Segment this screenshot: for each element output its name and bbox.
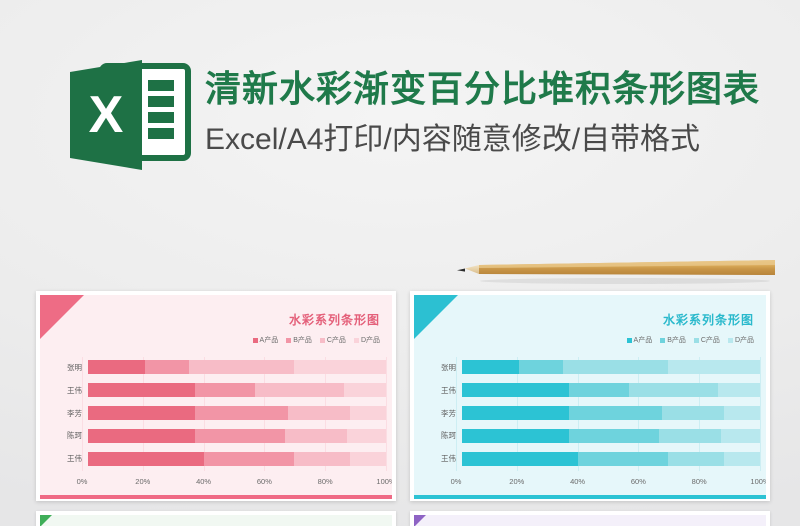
legend-swatch-icon [253,338,258,343]
bar-segment-2[interactable] [569,383,629,397]
bar-segment-3[interactable] [662,406,725,420]
row-label: 陈珂 [422,430,462,441]
bar-segment-3[interactable] [288,406,351,420]
row-label: 陈珂 [48,430,88,441]
bar-segment-1[interactable] [88,406,195,420]
bar-segment-4[interactable] [721,429,760,443]
svg-text:X: X [89,86,124,144]
bar-segment-2[interactable] [578,452,667,466]
x-axis-tick: 60% [631,477,646,486]
legend-label: C产品 [701,335,720,345]
chart-row: 李芳 [48,406,386,420]
title-block: 清新水彩渐变百分比堆积条形图表 Excel/A4打印/内容随意修改/自带格式 [205,66,765,162]
chart-row: 张明 [48,360,386,374]
row-label: 王伟 [422,385,462,396]
bar-segment-3[interactable] [563,360,667,374]
bar-segment-3[interactable] [668,452,725,466]
bar-segment-1[interactable] [462,406,569,420]
bar-segment-1[interactable] [462,360,519,374]
gridline [760,357,761,471]
row-label: 王伟 [48,385,88,396]
x-axis-tick: 80% [318,477,333,486]
row-label: 张明 [422,362,462,373]
legend-label: B产品 [293,335,312,345]
excel-logo-icon: X [64,54,196,176]
corner-accent-triangle [40,295,84,339]
bar-segment-3[interactable] [285,429,348,443]
chart-legend: A产品B产品C产品D产品 [627,335,754,345]
chart-x-axis: 0%20%40%60%80%100% [456,477,760,489]
stacked-bar[interactable] [88,383,386,397]
bar-segment-1[interactable] [88,429,195,443]
bar-segment-1[interactable] [462,429,569,443]
row-label: 王伟 [48,453,88,464]
bar-segment-3[interactable] [294,452,351,466]
chart-row: 王伟 [422,452,760,466]
bottom-accent-bar [40,495,392,499]
chart-x-axis: 0%20%40%60%80%100% [82,477,386,489]
legend-swatch-icon [627,338,632,343]
stacked-bar[interactable] [88,429,386,443]
bar-segment-4[interactable] [344,383,386,397]
bar-segment-1[interactable] [462,452,578,466]
legend-swatch-icon [286,338,291,343]
chart-card-green-peek[interactable] [36,511,396,526]
legend-item-2[interactable]: B产品 [286,335,312,345]
bar-segment-2[interactable] [519,360,564,374]
bar-segment-2[interactable] [204,452,293,466]
bar-segment-4[interactable] [724,452,760,466]
row-label: 张明 [48,362,88,373]
legend-item-2[interactable]: B产品 [660,335,686,345]
stacked-bar[interactable] [462,360,760,374]
bar-segment-1[interactable] [88,452,204,466]
bar-segment-2[interactable] [145,360,190,374]
corner-accent-triangle [40,515,52,526]
legend-item-4[interactable]: D产品 [354,335,380,345]
legend-label: D产品 [361,335,380,345]
bar-segment-4[interactable] [724,406,760,420]
poster-header: X 清新水彩渐变百分比堆积条形图表 Excel/A4打印/内容随意修改/自带格式 [0,0,800,248]
chart-card-teal-panel: 水彩系列条形图 A产品B产品C产品D产品 张明王伟李芳陈珂王伟 0%20%40%… [414,295,766,497]
chart-card-pink-panel: 水彩系列条形图 A产品B产品C产品D产品 张明王伟李芳陈珂王伟 0%20%40%… [40,295,392,497]
row-label: 王伟 [422,453,462,464]
chart-plot-area: 张明王伟李芳陈珂王伟 [48,357,386,471]
legend-label: D产品 [735,335,754,345]
bar-segment-4[interactable] [350,406,386,420]
legend-label: A产品 [634,335,653,345]
chart-title: 水彩系列条形图 [663,311,754,328]
gridline [386,357,387,471]
x-axis-tick: 20% [135,477,150,486]
chart-card-green-panel [40,515,392,526]
legend-label: C产品 [327,335,346,345]
bar-segment-4[interactable] [718,383,760,397]
stacked-bar[interactable] [88,452,386,466]
x-axis-tick: 0% [451,477,462,486]
chart-row: 陈珂 [422,429,760,443]
chart-legend: A产品B产品C产品D产品 [253,335,380,345]
corner-accent-triangle [414,295,458,339]
stacked-bar[interactable] [462,452,760,466]
row-label: 李芳 [48,408,88,419]
x-axis-tick: 100% [750,477,766,486]
chart-row: 王伟 [422,383,760,397]
chart-card-pink[interactable]: 水彩系列条形图 A产品B产品C产品D产品 张明王伟李芳陈珂王伟 0%20%40%… [36,291,396,501]
legend-item-3[interactable]: C产品 [320,335,346,345]
chart-row: 张明 [422,360,760,374]
legend-swatch-icon [320,338,325,343]
bottom-accent-bar [414,495,766,499]
bar-segment-1[interactable] [88,383,195,397]
chart-card-purple-peek[interactable] [410,511,770,526]
poster-canvas: X 清新水彩渐变百分比堆积条形图表 Excel/A4打印/内容随意修改/自带格式 [0,0,800,526]
bar-segment-2[interactable] [195,383,255,397]
bar-segment-1[interactable] [88,360,145,374]
x-axis-tick: 100% [376,477,392,486]
page-subtitle: Excel/A4打印/内容随意修改/自带格式 [205,118,765,162]
chart-row: 王伟 [48,452,386,466]
stacked-bar[interactable] [462,406,760,420]
bar-segment-3[interactable] [629,383,718,397]
bar-segment-2[interactable] [195,406,287,420]
pencil-icon [455,258,775,284]
chart-card-teal[interactable]: 水彩系列条形图 A产品B产品C产品D产品 张明王伟李芳陈珂王伟 0%20%40%… [410,291,770,501]
stacked-bar[interactable] [462,429,760,443]
bar-segment-2[interactable] [569,429,658,443]
x-axis-tick: 60% [257,477,272,486]
bar-segment-1[interactable] [462,383,569,397]
legend-item-1[interactable]: A产品 [627,335,653,345]
chart-row: 陈珂 [48,429,386,443]
chart-row: 王伟 [48,383,386,397]
legend-swatch-icon [694,338,699,343]
chart-card-purple-panel [414,515,766,526]
chart-plot-area: 张明王伟李芳陈珂王伟 [422,357,760,471]
legend-swatch-icon [660,338,665,343]
bar-segment-2[interactable] [195,429,284,443]
row-label: 李芳 [422,408,462,419]
bar-segment-4[interactable] [668,360,760,374]
bar-segment-2[interactable] [569,406,661,420]
x-axis-tick: 20% [509,477,524,486]
page-title: 清新水彩渐变百分比堆积条形图表 [205,66,765,112]
stacked-bar[interactable] [88,406,386,420]
bar-segment-3[interactable] [659,429,722,443]
legend-item-3[interactable]: C产品 [694,335,720,345]
corner-accent-triangle [414,515,426,526]
legend-label: A产品 [260,335,279,345]
bar-segment-4[interactable] [347,429,386,443]
legend-item-4[interactable]: D产品 [728,335,754,345]
x-axis-tick: 0% [77,477,88,486]
bar-segment-4[interactable] [350,452,386,466]
bar-segment-4[interactable] [294,360,386,374]
legend-item-1[interactable]: A产品 [253,335,279,345]
legend-swatch-icon [728,338,733,343]
x-axis-tick: 40% [196,477,211,486]
x-axis-tick: 80% [692,477,707,486]
chart-title: 水彩系列条形图 [289,311,380,328]
stacked-bar[interactable] [462,383,760,397]
chart-row: 李芳 [422,406,760,420]
x-axis-tick: 40% [570,477,585,486]
legend-label: B产品 [667,335,686,345]
legend-swatch-icon [354,338,359,343]
bar-segment-3[interactable] [189,360,293,374]
bar-segment-3[interactable] [255,383,344,397]
chart-sheet: 水彩系列条形图 A产品B产品C产品D产品 张明王伟李芳陈珂王伟 0%20%40%… [0,283,800,526]
stacked-bar[interactable] [88,360,386,374]
